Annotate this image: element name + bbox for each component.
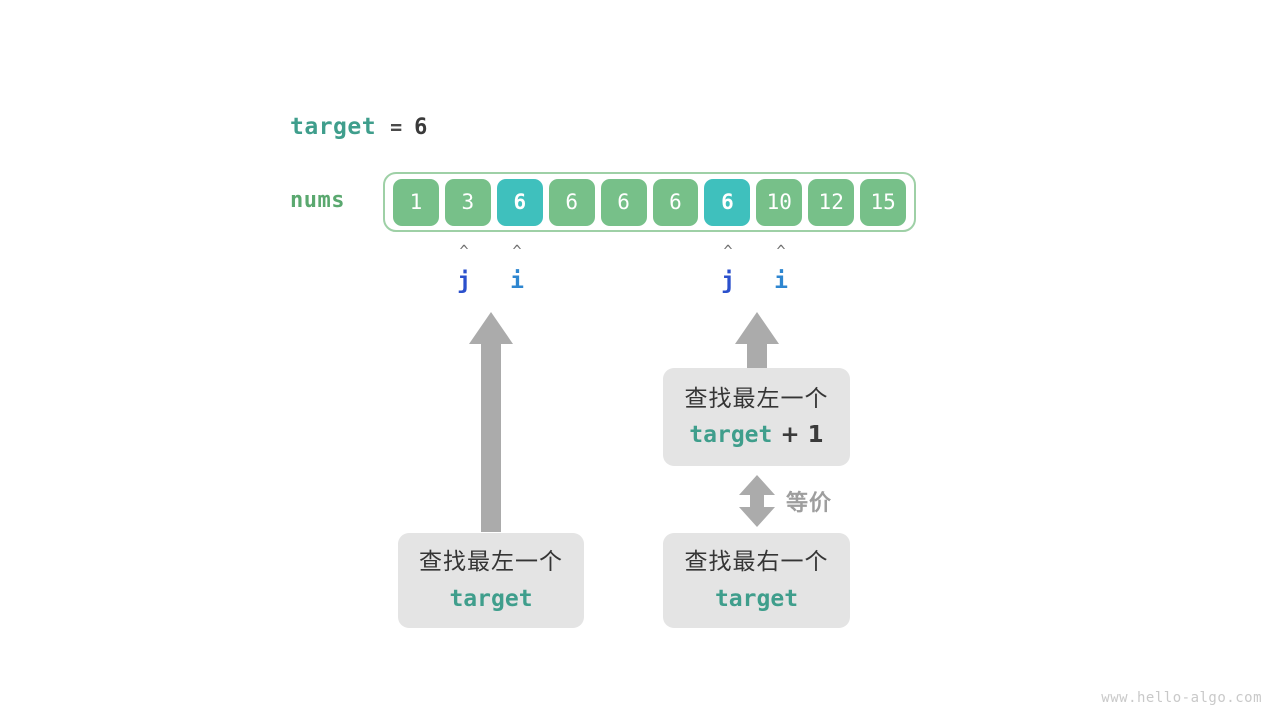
target-declaration: target = 6 <box>290 110 427 144</box>
array-container: 1 3 6 6 6 6 6 10 12 15 <box>383 172 916 232</box>
note-text-cn: 查找最左一个 <box>419 549 563 577</box>
pointer-label-j: j <box>453 270 475 293</box>
diagram-canvas: target = 6 nums 1 3 6 6 6 6 6 10 12 15 ^… <box>0 0 1280 720</box>
note-text-cn: 查找最右一个 <box>685 549 829 577</box>
note-leftmost-target-plus-one: 查找最左一个 target + 1 <box>663 368 850 466</box>
note-leftmost-target: 查找最左一个 target <box>398 533 584 628</box>
array-cell-highlighted: 6 <box>497 179 543 226</box>
nums-label: nums <box>290 188 345 213</box>
array-cell: 15 <box>860 179 906 226</box>
caret-icon: ^ <box>771 244 791 259</box>
caret-icon: ^ <box>718 244 738 259</box>
array-cell: 6 <box>653 179 699 226</box>
array-cell: 6 <box>549 179 595 226</box>
array-cell: 3 <box>445 179 491 226</box>
array-cell: 10 <box>756 179 802 226</box>
pointer-label-i: i <box>770 270 792 293</box>
equals-sign: = <box>390 115 402 139</box>
note-code-suffix: + 1 <box>772 422 823 448</box>
double-arrow-vertical-icon <box>730 474 784 528</box>
watermark: www.hello-algo.com <box>1101 690 1262 706</box>
note-code: target <box>449 586 532 612</box>
array-cell-highlighted: 6 <box>704 179 750 226</box>
note-code: target + 1 <box>689 422 823 448</box>
array-cell: 6 <box>601 179 647 226</box>
equivalence-label: 等价 <box>786 485 832 517</box>
note-rightmost-target: 查找最右一个 target <box>663 533 850 628</box>
arrow-up-long-icon <box>460 310 524 535</box>
arrow-up-short-icon <box>726 310 790 370</box>
pointer-label-i: i <box>506 270 528 293</box>
note-code: target <box>715 586 798 612</box>
caret-icon: ^ <box>454 244 474 259</box>
target-keyword: target <box>290 114 376 140</box>
array-cell: 12 <box>808 179 854 226</box>
note-code-keyword: target <box>689 422 772 448</box>
caret-icon: ^ <box>507 244 527 259</box>
array-cell: 1 <box>393 179 439 226</box>
target-value: 6 <box>414 115 427 140</box>
pointer-label-j: j <box>717 270 739 293</box>
note-text-cn: 查找最左一个 <box>685 386 829 414</box>
